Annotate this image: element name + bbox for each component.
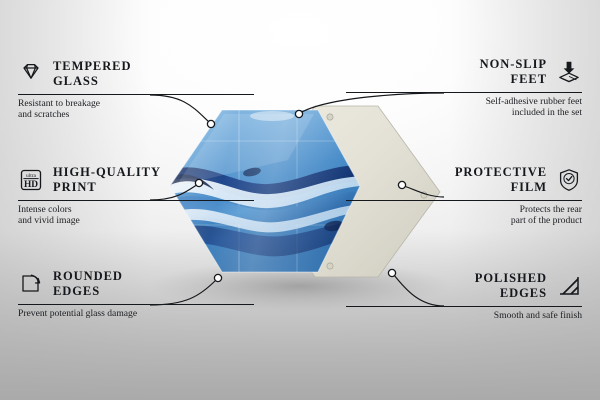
feature-title: NON-SLIP FEET	[480, 57, 547, 87]
feature-high-quality-print: ultra HD HIGH-QUALITY PRINT Intense colo…	[18, 160, 254, 227]
feature-rounded-edges: ROUNDED EDGES Prevent potential glass da…	[18, 264, 254, 319]
feature-header: POLISHED EDGES	[346, 266, 582, 306]
feature-header: NON-SLIP FEET	[346, 52, 582, 92]
feature-description: Prevent potential glass damage	[18, 305, 254, 319]
feature-title: POLISHED EDGES	[475, 271, 547, 301]
feature-title: ROUNDED EDGES	[53, 269, 123, 299]
feature-header: PROTECTIVE FILM	[346, 160, 582, 200]
feature-polished-edges: POLISHED EDGES	[346, 266, 582, 321]
feature-description: Intense colors and vivid image	[18, 201, 254, 227]
feature-protective-film: PROTECTIVE FILM Protects the rear part o…	[346, 160, 582, 227]
press-down-pad-icon	[556, 59, 582, 85]
ultra-hd-icon-top-text: ultra	[26, 173, 36, 179]
feature-non-slip-feet: NON-SLIP FEET Self-adhesive rubber feet …	[346, 52, 582, 119]
diamond-icon	[18, 61, 44, 87]
feature-header: TEMPERED GLASS	[18, 54, 254, 94]
feature-title: PROTECTIVE FILM	[455, 165, 547, 195]
rounded-corner-icon	[18, 271, 44, 297]
feature-title: HIGH-QUALITY PRINT	[53, 165, 161, 195]
feature-header: ultra HD HIGH-QUALITY PRINT	[18, 160, 254, 200]
ultra-hd-icon-main-text: HD	[24, 180, 38, 190]
feature-description: Self-adhesive rubber feet included in th…	[346, 93, 582, 119]
feature-description: Resistant to breakage and scratches	[18, 95, 254, 121]
ultra-hd-icon: ultra HD	[18, 167, 44, 193]
feature-description: Smooth and safe finish	[346, 307, 582, 321]
feature-description: Protects the rear part of the product	[346, 201, 582, 227]
shield-check-icon	[556, 167, 582, 193]
diagonal-stripes-icon	[556, 273, 582, 299]
feature-header: ROUNDED EDGES	[18, 264, 254, 304]
infographic-canvas: TEMPERED GLASS Resistant to breakage and…	[0, 0, 600, 400]
feature-title: TEMPERED GLASS	[53, 59, 131, 89]
feature-tempered-glass: TEMPERED GLASS Resistant to breakage and…	[18, 54, 254, 121]
